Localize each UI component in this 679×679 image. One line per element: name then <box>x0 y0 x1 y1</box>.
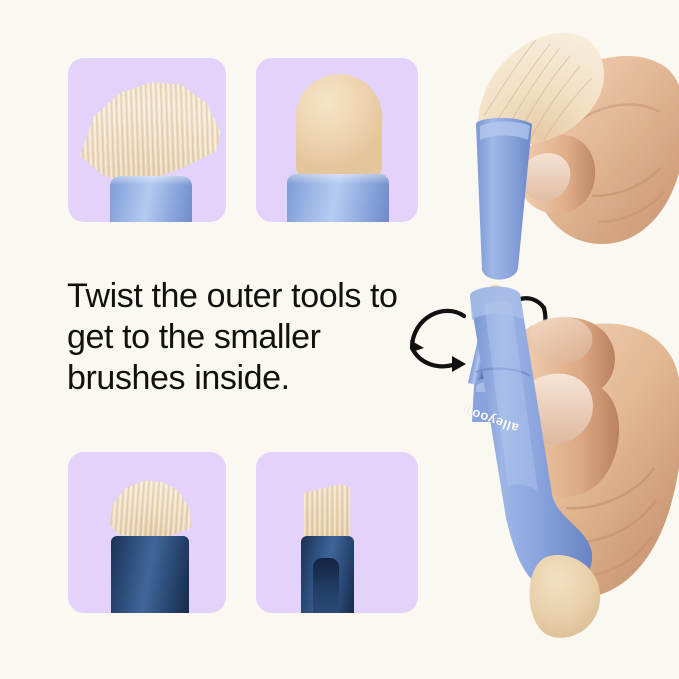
kabuki-brush-bristles <box>76 80 222 188</box>
swatch-tile-top-right <box>256 58 418 222</box>
kabuki-brush-ferrule <box>110 176 192 222</box>
powder-brush-cap <box>476 118 532 280</box>
infographic-canvas: Twist the outer tools to get to the smal… <box>0 0 679 679</box>
angled-liner-bristles <box>304 484 350 540</box>
sponge-blender-base <box>287 174 389 222</box>
swatch-tile-bottom-left <box>68 452 226 613</box>
swatch-tile-bottom-right <box>256 452 418 613</box>
swatch-tile-top-left <box>68 58 226 222</box>
dome-brush-ferrule <box>111 536 189 613</box>
angled-liner-ferrule <box>301 536 354 613</box>
hand-holding-powder-brush <box>452 0 679 300</box>
dome-brush-bristles <box>106 478 194 542</box>
hand-holding-wand <box>440 280 679 679</box>
page-title: Twist the outer tools to get to the smal… <box>67 276 437 399</box>
sponge-blender-dome <box>296 74 382 180</box>
